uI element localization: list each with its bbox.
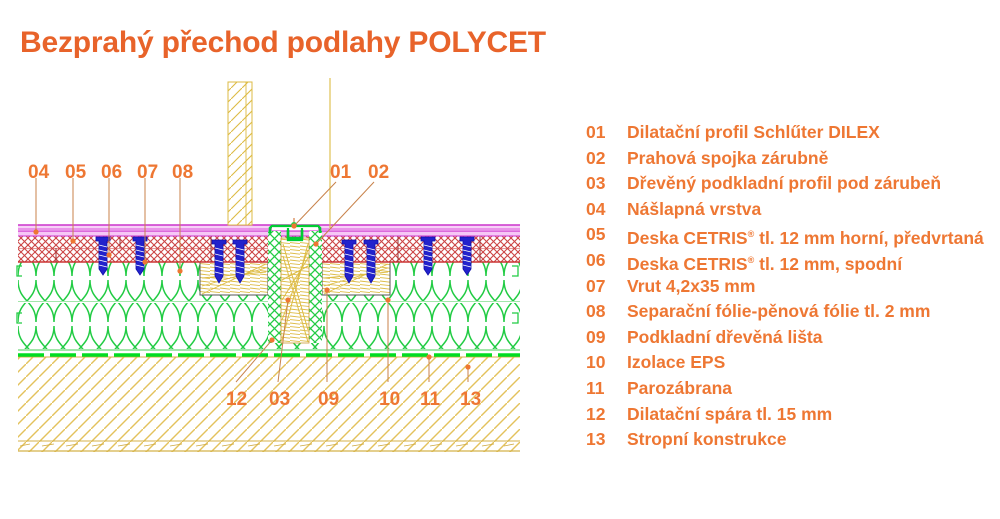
legend-number: 07 xyxy=(586,274,620,300)
door-jamb xyxy=(228,78,330,228)
technical-drawing xyxy=(0,0,570,519)
vapour-barrier xyxy=(18,350,520,355)
wood-batten-left xyxy=(200,262,268,295)
legend-label: Dilatační profil Schlűter DILEX xyxy=(627,120,880,146)
legend-number: 11 xyxy=(586,376,620,402)
callout-11: 11 xyxy=(420,390,440,409)
callout-01: 01 xyxy=(330,163,351,182)
legend-item: 06 Deska CETRIS® tl. 12 mm, spodní xyxy=(586,248,996,274)
legend-label-part1: Deska CETRIS xyxy=(627,254,748,274)
legend-item: 08 Separační fólie-pěnová fólie tl. 2 mm xyxy=(586,299,996,325)
callout-02: 02 xyxy=(368,163,389,182)
legend-item: 13 Stropní konstrukce xyxy=(586,427,996,453)
legend-item: 10 Izolace EPS xyxy=(586,350,996,376)
legend-list: 01 Dilatační profil Schlűter DILEX 02 Pr… xyxy=(586,120,996,453)
callout-12: 12 xyxy=(226,390,247,409)
legend-number: 12 xyxy=(586,402,620,428)
legend-label-part1: Deska CETRIS xyxy=(627,228,748,248)
legend-number: 13 xyxy=(586,427,620,453)
legend-item: 07 Vrut 4,2x35 mm xyxy=(586,274,996,300)
legend-label: Izolace EPS xyxy=(627,350,725,376)
callout-05: 05 xyxy=(65,163,86,182)
legend-number: 01 xyxy=(586,120,620,146)
dilatation-gap-right xyxy=(309,231,322,343)
legend-item: 04 Nášlapná vrstva xyxy=(586,197,996,223)
callout-03: 03 xyxy=(269,390,290,409)
legend-item: 02 Prahová spojka zárubně xyxy=(586,146,996,172)
callout-07: 07 xyxy=(137,163,158,182)
legend-label-part2: tl. 12 mm horní, předvrtaná xyxy=(754,228,984,248)
legend-number: 09 xyxy=(586,325,620,351)
callout-08: 08 xyxy=(172,163,193,182)
legend-label: Nášlapná vrstva xyxy=(627,197,761,223)
callout-10: 10 xyxy=(379,390,400,409)
callout-09: 09 xyxy=(318,390,339,409)
legend-label: Parozábrana xyxy=(627,376,732,402)
legend-number: 04 xyxy=(586,197,620,223)
legend-label: Dřevěný podkladní profil pod zárubeň xyxy=(627,171,941,197)
legend-label-part2: tl. 12 mm, spodní xyxy=(754,254,902,274)
legend-label: Dilatační spára tl. 15 mm xyxy=(627,402,832,428)
callout-06: 06 xyxy=(101,163,122,182)
dilatation-gap-left xyxy=(268,231,281,343)
legend-number: 10 xyxy=(586,350,620,376)
diagram-page: Bezprahý přechod podlahy POLYCET xyxy=(0,0,1000,519)
legend-item: 11 Parozábrana xyxy=(586,376,996,402)
wood-profile-under-frame xyxy=(281,238,309,343)
legend-number: 02 xyxy=(586,146,620,172)
callout-13: 13 xyxy=(460,390,481,409)
legend-label: Vrut 4,2x35 mm xyxy=(627,274,755,300)
legend-item: 12 Dilatační spára tl. 15 mm xyxy=(586,402,996,428)
legend-number: 08 xyxy=(586,299,620,325)
legend-number: 03 xyxy=(586,171,620,197)
legend-label: Separační fólie-pěnová fólie tl. 2 mm xyxy=(627,299,930,325)
callout-04: 04 xyxy=(28,163,49,182)
wood-batten-right xyxy=(322,262,390,295)
legend-item: 01 Dilatační profil Schlűter DILEX xyxy=(586,120,996,146)
legend-number: 05 xyxy=(586,222,620,248)
legend-label: Prahová spojka zárubně xyxy=(627,146,828,172)
legend-label: Stropní konstrukce xyxy=(627,427,786,453)
legend-label: Podkladní dřevěná lišta xyxy=(627,325,822,351)
legend-number: 06 xyxy=(586,248,620,274)
legend-item: 03 Dřevěný podkladní profil pod zárubeň xyxy=(586,171,996,197)
legend-item: 05 Deska CETRIS® tl. 12 mm horní, předvr… xyxy=(586,222,996,248)
legend-item: 09 Podkladní dřevěná lišta xyxy=(586,325,996,351)
